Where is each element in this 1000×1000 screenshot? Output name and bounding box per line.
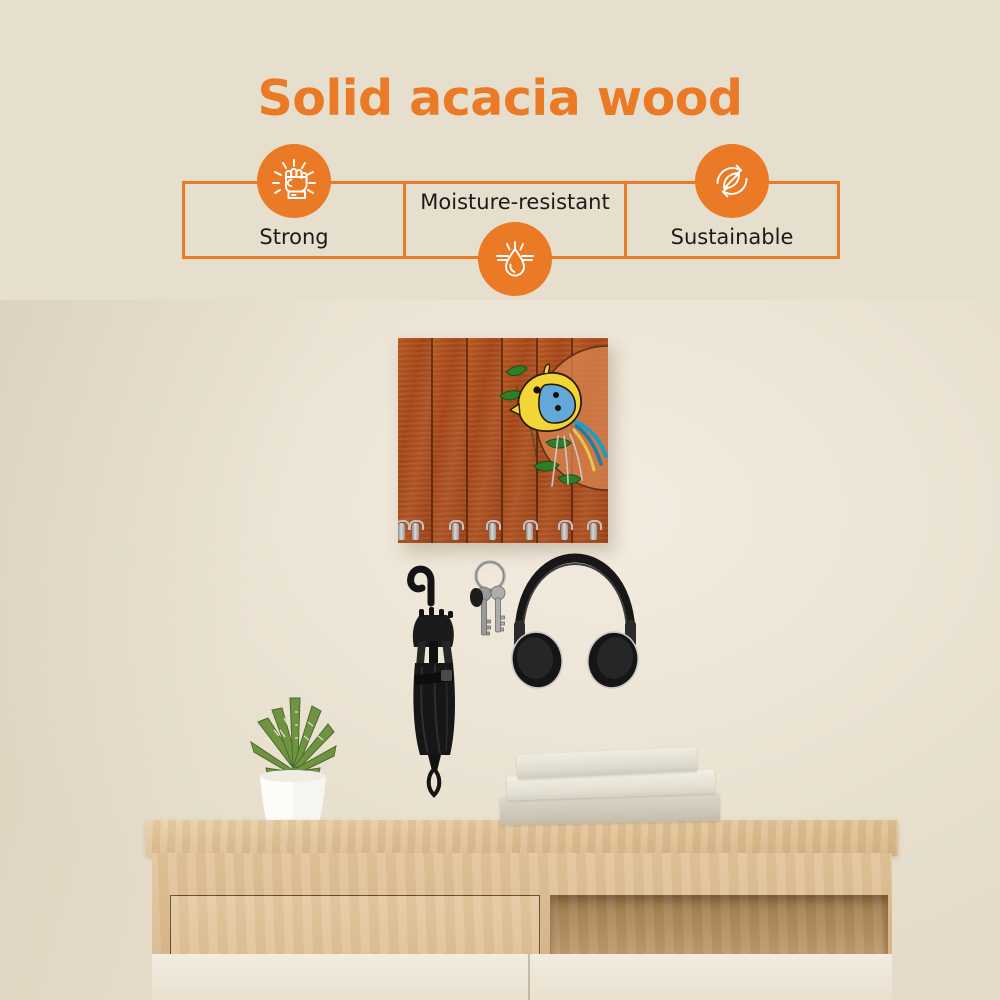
feature-badge-row: Strong Moisture-resistant (182, 181, 840, 259)
coat-hook (590, 523, 597, 540)
table-top-surface (146, 820, 898, 856)
black-over-ear-headphones (505, 548, 645, 693)
coat-hook (412, 523, 419, 540)
table-base-panel (152, 954, 892, 1000)
stack-of-three-books (495, 745, 725, 825)
haworthia-succulent-in-white-pot (238, 680, 348, 830)
feature-card-sustainable: Sustainable (624, 181, 840, 259)
painted-bird-artwork (398, 338, 608, 543)
table-body (152, 853, 892, 955)
wall-mounted-key-holder (398, 338, 608, 543)
coat-hook (489, 523, 496, 540)
page-title: Solid acacia wood (0, 74, 1000, 123)
light-oak-console-table (146, 820, 898, 1000)
product-lifestyle-photo (0, 300, 1000, 1000)
feature-label-strong: Strong (185, 225, 403, 249)
feature-label-moisture-resistant: Moisture-resistant (406, 190, 624, 214)
coat-hook (452, 523, 459, 540)
feature-card-strong: Strong (182, 181, 406, 259)
feature-label-sustainable: Sustainable (627, 225, 837, 249)
base-panel-divider (528, 954, 530, 1000)
coat-hook (561, 523, 568, 540)
coat-hook (526, 523, 533, 540)
recycle-leaf-icon (695, 144, 769, 218)
fist-strength-icon (257, 144, 331, 218)
water-droplet-repel-icon (478, 222, 552, 296)
infographic-canvas: Solid acacia wood (0, 0, 1000, 1000)
feature-card-moisture-resistant: Moisture-resistant (403, 181, 627, 259)
